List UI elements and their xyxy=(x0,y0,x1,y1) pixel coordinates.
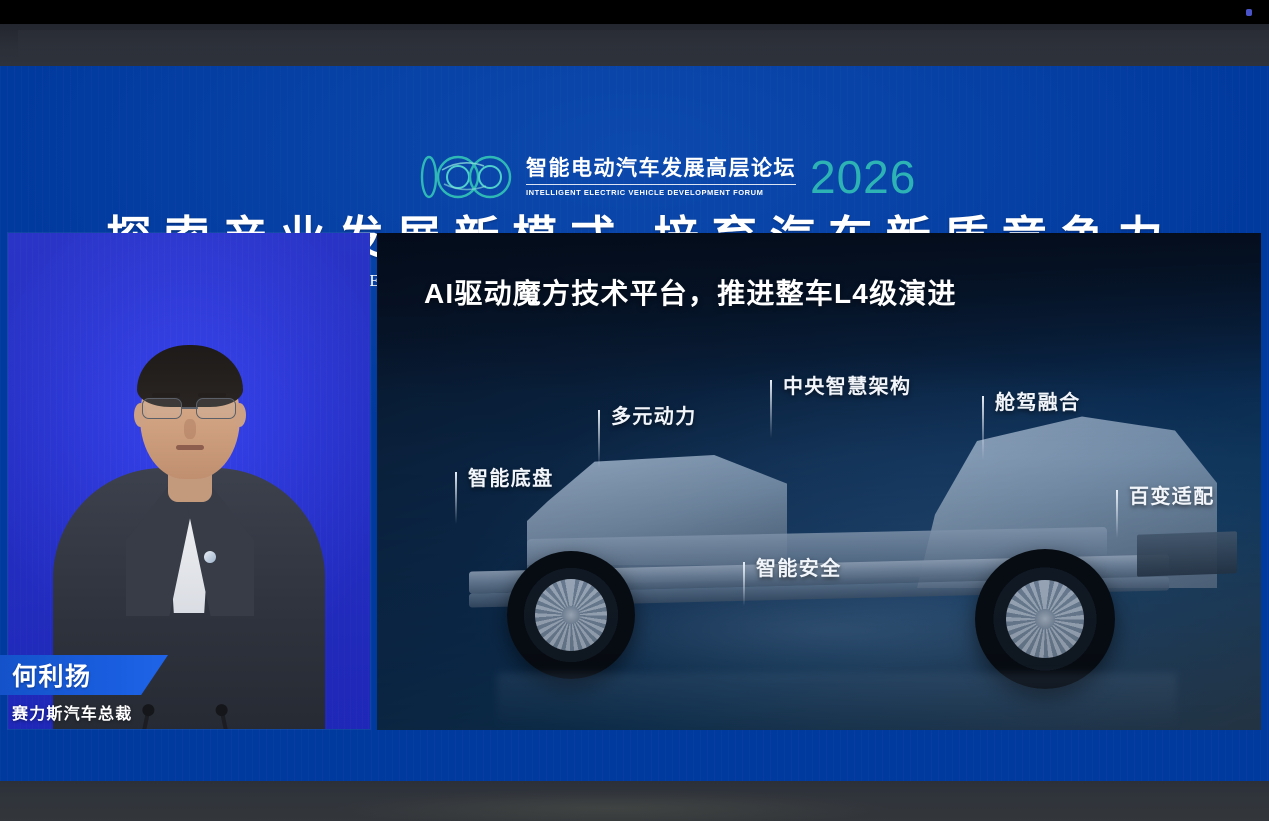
callout-tick xyxy=(598,410,600,468)
callout-cockpit-driving-fusion: 舱驾融合 xyxy=(982,396,1081,460)
callout-versatile-adaptation: 百变适配 xyxy=(1116,490,1215,538)
eyeglasses-icon xyxy=(136,398,244,420)
callout-label: 舱驾融合 xyxy=(995,393,1081,413)
callout-tick xyxy=(982,396,984,460)
speaker-video-panel[interactable]: 智能电动汽车发展高层论坛 INTELLIGENT ELECTRIC VEHICL… xyxy=(8,233,370,729)
callout-label: 中央智慧架构 xyxy=(783,377,911,397)
speaker-name: 何利扬 xyxy=(0,657,92,693)
callout-smart-chassis: 智能底盘 xyxy=(455,472,554,524)
callout-tick xyxy=(770,380,772,438)
status-indicator-dot xyxy=(1246,9,1252,16)
speaker-nose xyxy=(184,419,196,439)
slide-top-shade xyxy=(377,233,1261,393)
callout-central-architecture: 中央智慧架构 xyxy=(770,380,911,438)
forum-logo-lockup: 智能电动汽车发展高层论坛 INTELLIGENT ELECTRIC VEHICL… xyxy=(418,148,858,206)
window-top-black-bar xyxy=(0,0,1269,24)
forum-name-cn: 智能电动汽车发展高层论坛 xyxy=(526,157,796,184)
forum-name-en: INTELLIGENT ELECTRIC VEHICLE DEVELOPMENT… xyxy=(526,188,796,197)
window-toolbar-strip xyxy=(0,24,1269,66)
callout-multi-powertrain: 多元动力 xyxy=(598,410,697,468)
callout-label: 百变适配 xyxy=(1129,487,1215,507)
lapel-pin xyxy=(204,551,216,563)
callout-label: 智能底盘 xyxy=(468,469,554,489)
forum-year: 2026 xyxy=(810,154,916,200)
callout-tick xyxy=(743,562,745,606)
bottom-strip-glow xyxy=(330,789,890,821)
callout-label: 智能安全 xyxy=(756,559,842,579)
speaker-figure xyxy=(8,233,370,729)
speaker-name-plate: 何利扬 xyxy=(0,655,168,695)
event-banner: 智能电动汽车发展高层论坛 INTELLIGENT ELECTRIC VEHICL… xyxy=(0,66,1269,781)
callout-tick xyxy=(455,472,457,524)
window-bottom-strip xyxy=(0,781,1269,821)
callout-smart-safety: 智能安全 xyxy=(743,562,842,606)
speaker-role: 赛力斯汽车总裁 xyxy=(12,700,132,724)
forum-logo-text: 智能电动汽车发展高层论坛 INTELLIGENT ELECTRIC VEHICL… xyxy=(526,157,796,196)
callout-tick xyxy=(1116,490,1118,538)
ievdf-infinity-logo-icon xyxy=(418,152,518,202)
callout-label: 多元动力 xyxy=(611,407,697,427)
speaker-eyebrow-left xyxy=(152,393,180,397)
slide-title: AI驱动魔方技术平台，推进整车L4级演进 xyxy=(424,272,1184,312)
speaker-eyebrow-right xyxy=(198,393,226,397)
speaker-mouth xyxy=(176,445,204,450)
